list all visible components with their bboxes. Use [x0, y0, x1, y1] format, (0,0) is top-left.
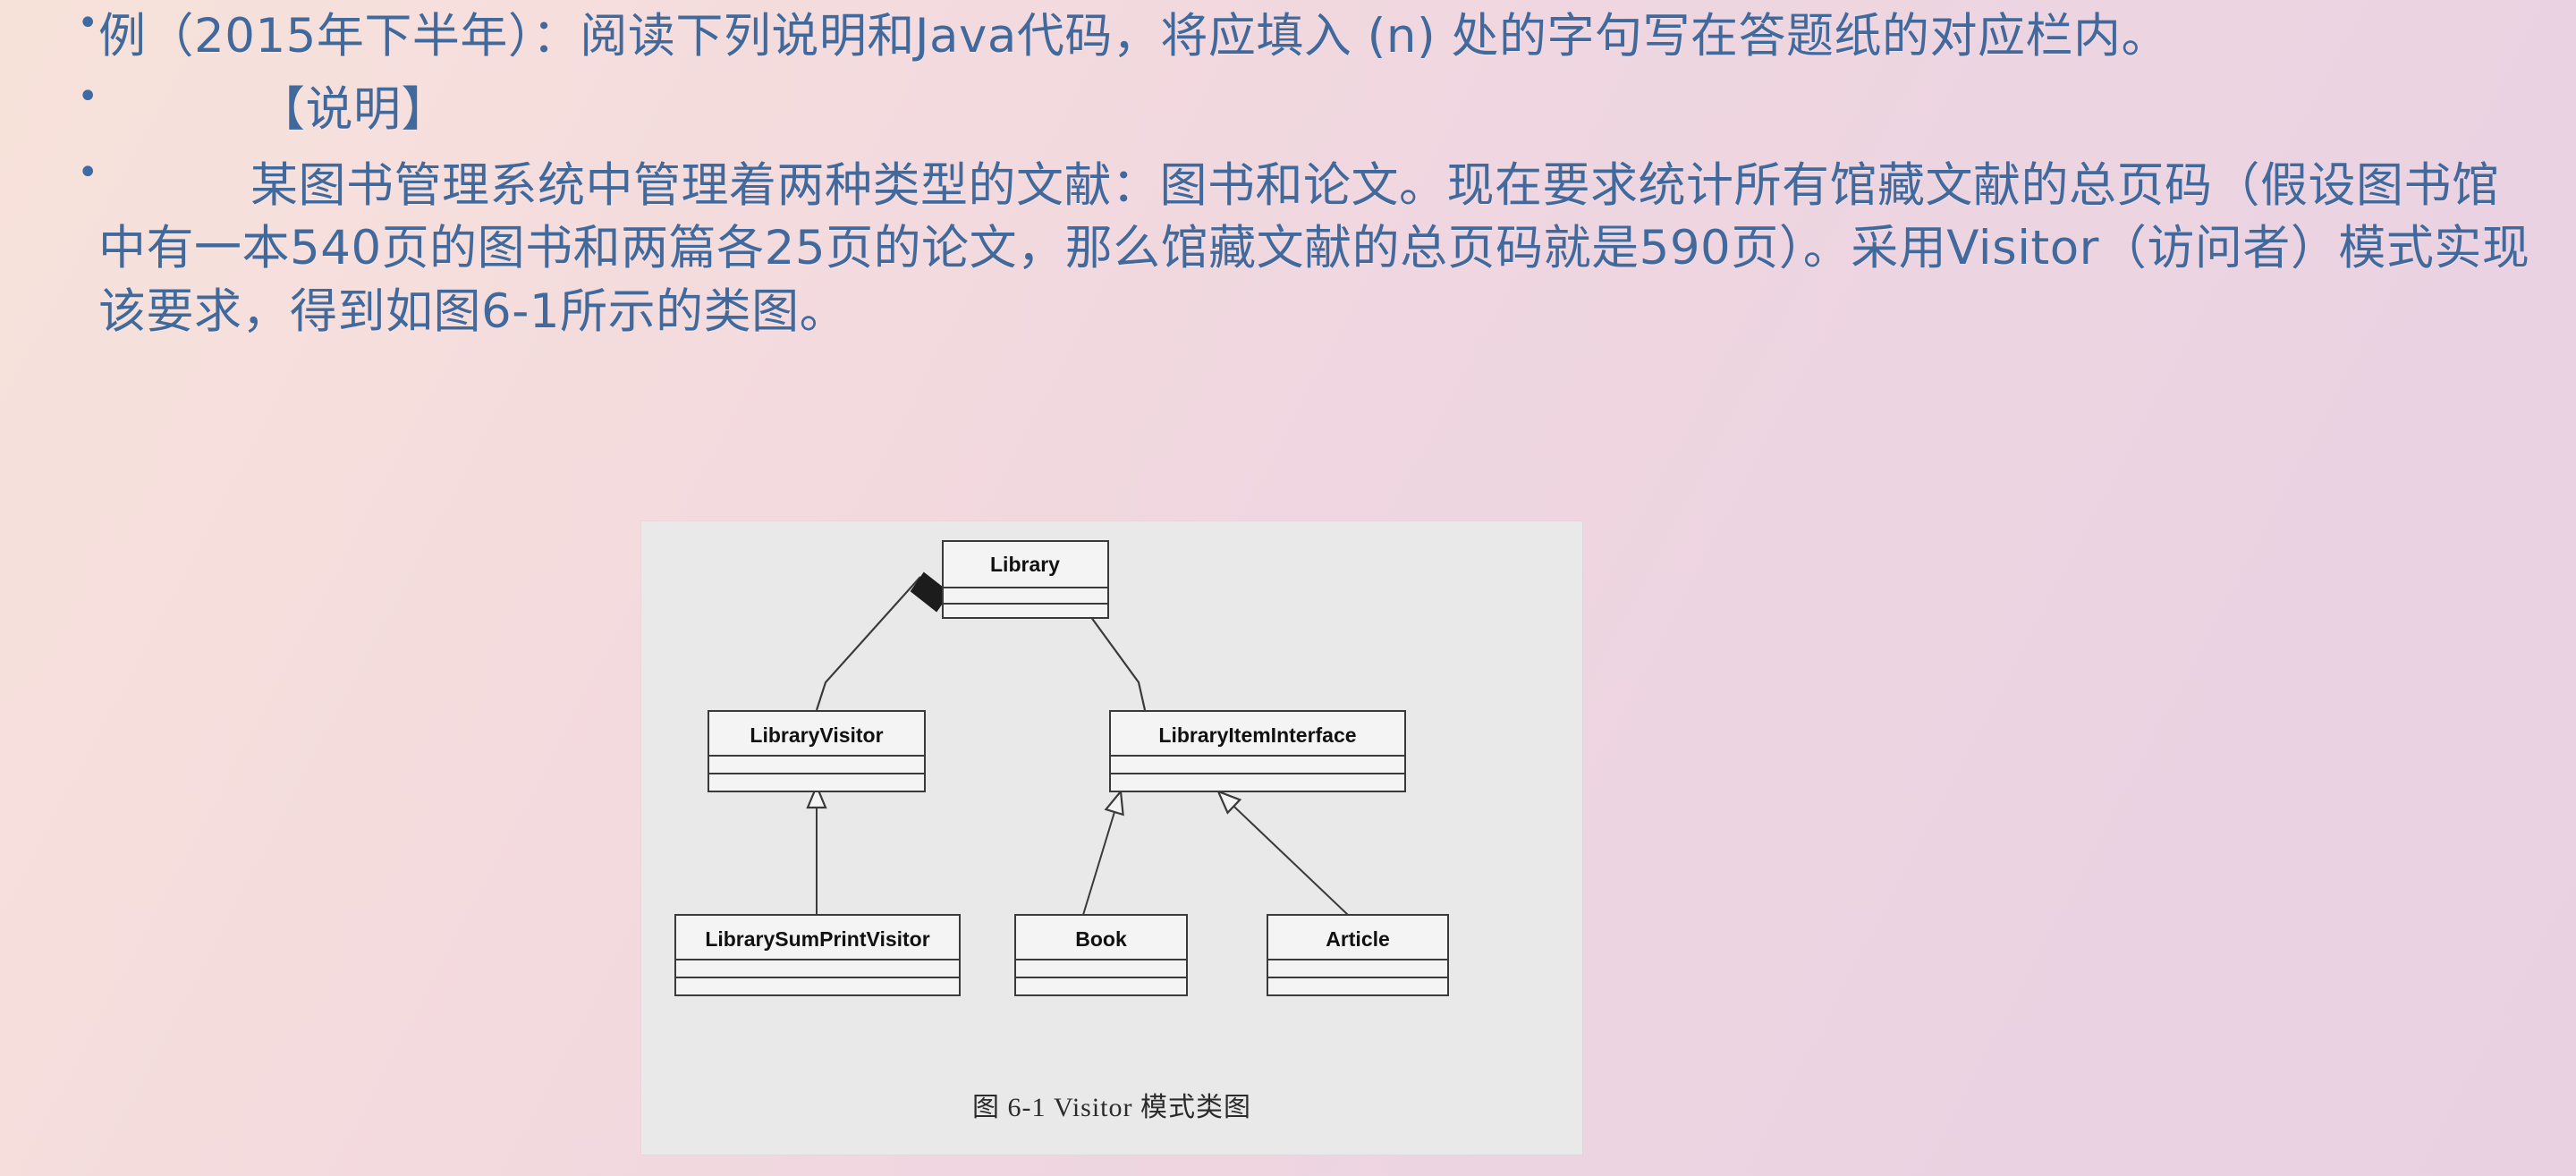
figure-caption: 图 6-1 Visitor 模式类图	[641, 1085, 1582, 1124]
uml-class-label-book: Book	[1075, 927, 1127, 951]
bullet-text-example: 例（2015年下半年）：阅读下列说明和Java代码，将应填入 (n) 处的字句写…	[98, 5, 2576, 68]
uml-class-label-libraryvisitor: LibraryVisitor	[750, 723, 883, 747]
bullet-text-description: 某图书管理系统中管理着两种类型的文献：图书和论文。现在要求统计所有馆藏文献的总页…	[98, 155, 2576, 343]
bullet-text-heading: 【说明】	[98, 79, 2576, 141]
uml-diagram-svg: Library LibraryVisitor LibraryItemInterf…	[641, 521, 1582, 1155]
slide-content: • 例（2015年下半年）：阅读下列说明和Java代码，将应填入 (n) 处的字…	[0, 0, 2576, 343]
relation-article-iteminterface	[1218, 791, 1348, 915]
uml-class-label-article: Article	[1326, 927, 1390, 951]
uml-class-label-libraryiteminterface: LibraryItemInterface	[1158, 723, 1356, 747]
bullet-item-heading: • 【说明】	[0, 79, 2576, 141]
figure-uml-class-diagram: Library LibraryVisitor LibraryItemInterf…	[641, 521, 1582, 1155]
uml-class-label-library: Library	[990, 553, 1060, 576]
bullet-dot-icon: •	[0, 79, 98, 114]
bullet-dot-icon: •	[0, 155, 98, 190]
bullet-dot-icon: •	[0, 5, 98, 41]
bullet-item-example: • 例（2015年下半年）：阅读下列说明和Java代码，将应填入 (n) 处的字…	[0, 5, 2576, 68]
uml-class-label-librarysumprintvisitor: LibrarySumPrintVisitor	[705, 927, 929, 951]
relation-library-libraryvisitor	[817, 577, 920, 710]
bullet-item-description: • 某图书管理系统中管理着两种类型的文献：图书和论文。现在要求统计所有馆藏文献的…	[0, 155, 2576, 343]
relation-book-iteminterface	[1083, 791, 1121, 915]
